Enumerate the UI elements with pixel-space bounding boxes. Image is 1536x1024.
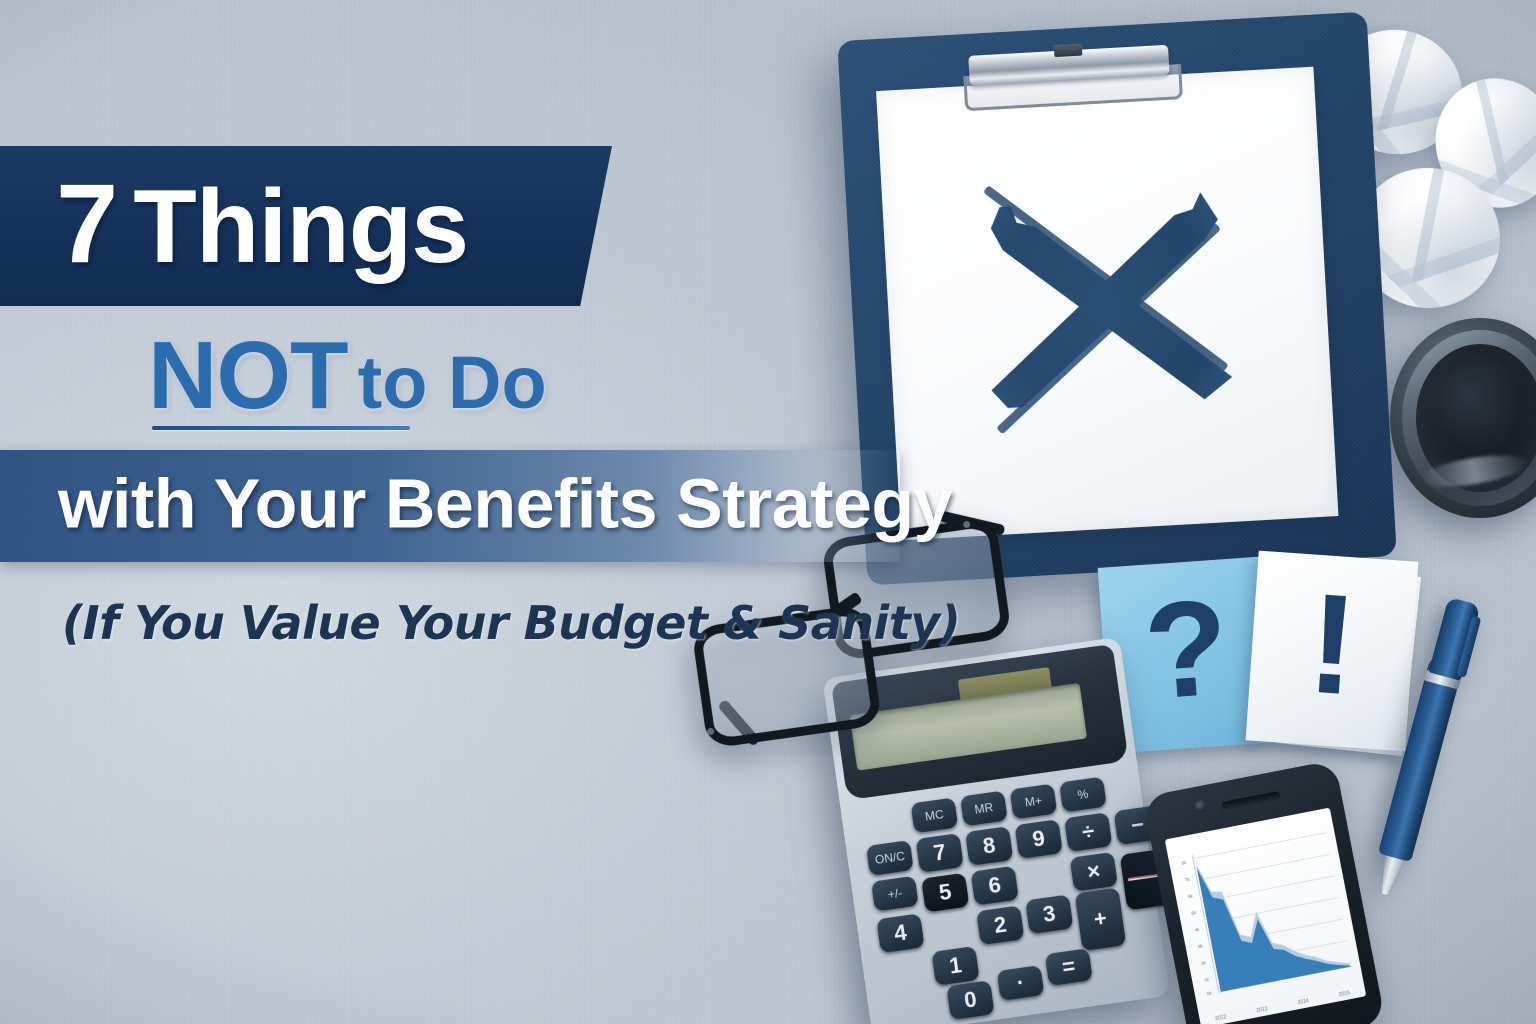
headline-bar-secondary: with Your Benefits Strategy	[0, 450, 900, 562]
headline-emphasis-not: NOT	[148, 322, 348, 429]
calculator-keypad: ON/C +/- MC MR M+ % 7 8 9 ÷ × 4 5 6 − 1 …	[861, 774, 1150, 1020]
calc-key-multiply[interactable]: ×	[1070, 852, 1118, 892]
svg-text:8k: 8k	[1181, 860, 1187, 866]
clip-tab	[1054, 44, 1083, 58]
area-chart: 0k1k 2k3k 4k5k 6k7k 8k	[1165, 808, 1367, 1024]
svg-text:4k: 4k	[1194, 927, 1200, 933]
headline-line-2-wrap: NOTto Do	[148, 328, 708, 436]
calc-key-1[interactable]: 1	[931, 946, 979, 986]
calc-key-4[interactable]: 4	[876, 913, 924, 953]
calc-key-8[interactable]: 8	[965, 826, 1013, 866]
calc-key-5[interactable]: 5	[921, 873, 969, 913]
underline-rule	[152, 426, 410, 430]
calc-key-3[interactable]: 3	[1025, 894, 1073, 934]
phone-screen[interactable]: 0k1k 2k3k 4k5k 6k7k 8k 2012 2013 2014 20…	[1165, 808, 1367, 1024]
headline-line-3: with Your Benefits Strategy	[58, 464, 952, 544]
question-mark-icon: ?	[1140, 578, 1232, 719]
headline-word: Things	[133, 169, 468, 285]
headline-line-2-rest: to Do	[358, 341, 547, 424]
svg-text:2k: 2k	[1201, 960, 1207, 966]
exclamation-sticky-note: !	[1246, 551, 1419, 752]
calc-key-2[interactable]: 2	[976, 905, 1024, 945]
title-card-graphic: ? ! ON/C +/- MC MR M+ % 7	[0, 0, 1536, 1024]
calc-key-on-c[interactable]: ON/C	[866, 840, 914, 876]
calc-key-7[interactable]: 7	[916, 833, 964, 873]
calc-key-6[interactable]: 6	[971, 866, 1019, 906]
smartphone: 0k1k 2k3k 4k5k 6k7k 8k 2012 2013 2014 20…	[1142, 760, 1386, 1024]
svg-text:0k: 0k	[1206, 990, 1212, 996]
headline-number: 7	[56, 161, 117, 286]
headline-line-1: 7Things	[56, 168, 468, 280]
svg-text:7k: 7k	[1184, 877, 1190, 883]
calc-key-decimal[interactable]: ·	[997, 965, 1045, 1001]
svg-text:1k: 1k	[1204, 977, 1210, 983]
exclamation-mark-icon: !	[1304, 573, 1361, 718]
calc-key-percent[interactable]: %	[1059, 777, 1107, 813]
calc-key-m-plus[interactable]: M+	[1010, 784, 1058, 820]
calc-key-9[interactable]: 9	[1015, 819, 1063, 859]
headline-bar-primary: 7Things	[0, 146, 612, 306]
svg-text:6k: 6k	[1188, 893, 1194, 899]
calc-key-plus[interactable]: +	[1075, 887, 1127, 951]
coffee-cup	[1390, 318, 1536, 518]
svg-text:3k: 3k	[1197, 943, 1203, 949]
calc-key-sign[interactable]: +/-	[871, 876, 919, 912]
calc-key-equals[interactable]: =	[1045, 948, 1093, 986]
calc-key-mc[interactable]: MC	[911, 797, 959, 833]
svg-text:5k: 5k	[1191, 910, 1197, 916]
clipboard-clip	[962, 38, 1177, 112]
subtitle: (If You Value Your Budget & Sanity)	[62, 596, 940, 650]
calc-key-mr[interactable]: MR	[960, 790, 1008, 826]
headline-line-2: NOTto Do	[148, 328, 547, 424]
calc-key-divide[interactable]: ÷	[1064, 812, 1112, 852]
calc-key-0[interactable]: 0	[946, 980, 994, 1020]
headline-block: 7Things NOTto Do with Your Benefits Stra…	[0, 146, 940, 650]
